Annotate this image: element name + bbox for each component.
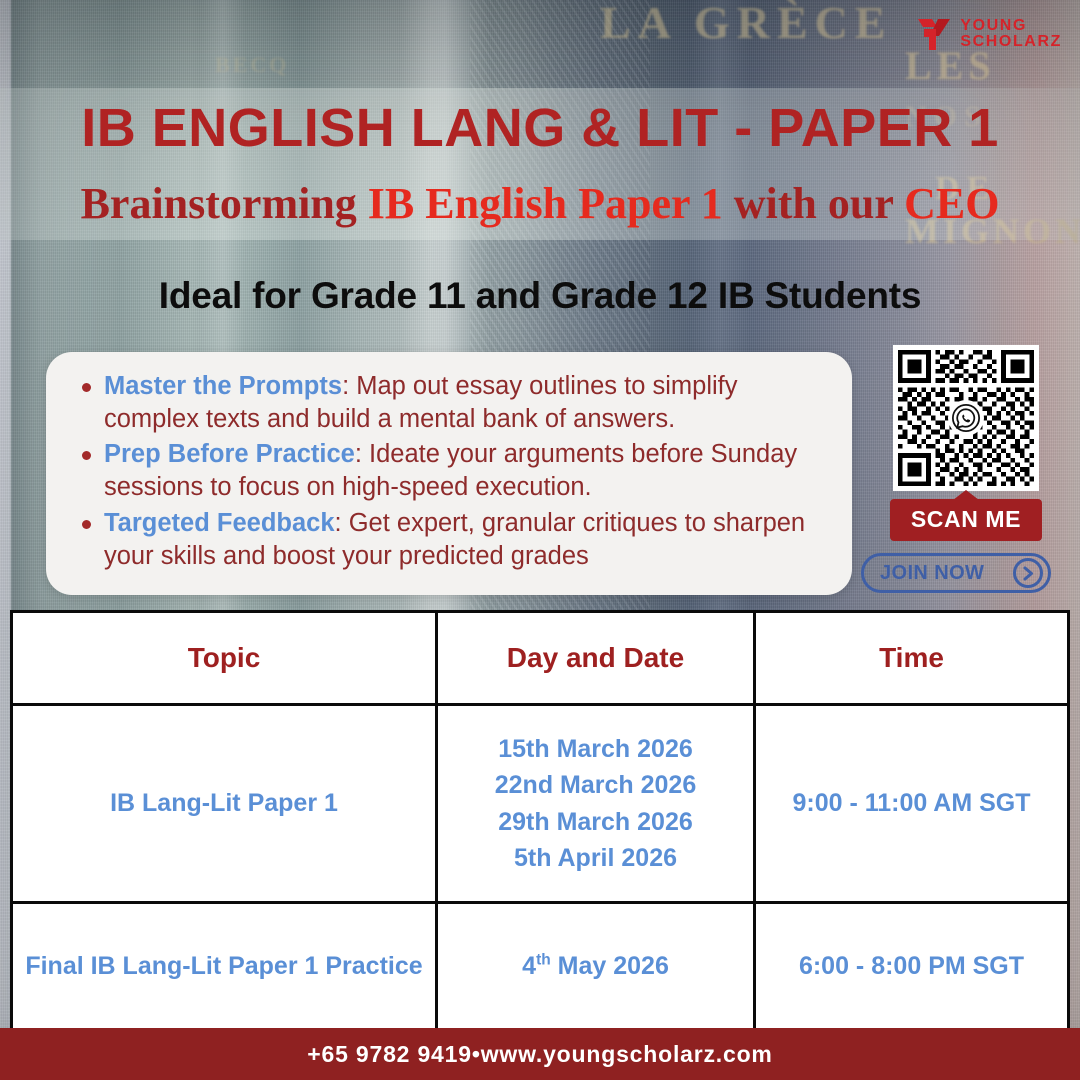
cell-topic: Final IB Lang-Lit Paper 1 Practice xyxy=(12,903,437,1031)
table-row: IB Lang-Lit Paper 1 15th March 2026 22nd… xyxy=(12,705,1069,903)
cell-time: 6:00 - 8:00 PM SGT xyxy=(755,903,1069,1031)
whatsapp-icon xyxy=(948,400,984,436)
qr-code[interactable] xyxy=(893,345,1039,491)
list-item: Master the Prompts: Map out essay outlin… xyxy=(66,370,826,436)
cell-date: 4th May 2026 xyxy=(437,903,755,1031)
cell-dates: 15th March 2026 22nd March 2026 29th Mar… xyxy=(437,705,755,903)
cell-topic: IB Lang-Lit Paper 1 xyxy=(12,705,437,903)
brand-logo-line2: SCHOLARZ xyxy=(960,34,1062,50)
subtitle-part-3: with our xyxy=(723,179,904,228)
subtitle-part-2: IB English Paper 1 xyxy=(368,179,723,228)
join-now-label: JOIN NOW xyxy=(880,562,984,585)
column-header-time: Time xyxy=(755,612,1069,705)
column-header-topic: Topic xyxy=(12,612,437,705)
brand-logo-line1: YOUNG xyxy=(960,18,1062,34)
page-title: IB ENGLISH LANG & LIT - PAPER 1 xyxy=(0,97,1080,159)
benefit-heading: Prep Before Practice xyxy=(104,440,355,468)
benefits-list: Master the Prompts: Map out essay outlin… xyxy=(66,370,826,573)
join-now-button[interactable]: JOIN NOW xyxy=(861,553,1051,593)
footer-separator: • xyxy=(472,1041,481,1068)
cell-dates-text: 15th March 2026 22nd March 2026 29th Mar… xyxy=(495,735,697,872)
contact-footer: +65 9782 9419 • www.youngscholarz.com xyxy=(0,1028,1080,1080)
table-row: Final IB Lang-Lit Paper 1 Practice 4th M… xyxy=(12,903,1069,1031)
young-scholarz-y-mark xyxy=(917,16,951,52)
footer-website: www.youngscholarz.com xyxy=(481,1041,773,1068)
column-header-day-and-date: Day and Date xyxy=(437,612,755,705)
cell-date-suffix: th xyxy=(536,952,551,969)
benefit-heading: Master the Prompts xyxy=(104,372,342,400)
footer-phone: +65 9782 9419 xyxy=(307,1041,472,1068)
audience-line: Ideal for Grade 11 and Grade 12 IB Stude… xyxy=(0,275,1080,317)
page-subtitle: Brainstorming IB English Paper 1 with ou… xyxy=(0,178,1080,229)
chevron-right-icon xyxy=(1013,558,1043,588)
list-item: Prep Before Practice: Ideate your argume… xyxy=(66,438,826,504)
brand-logo: YOUNG SCHOLARZ xyxy=(917,16,1062,52)
cell-date-number: 4 xyxy=(522,952,536,980)
subtitle-part-4: CEO xyxy=(904,179,999,228)
list-item: Targeted Feedback: Get expert, granular … xyxy=(66,507,826,573)
brand-logo-text: YOUNG SCHOLARZ xyxy=(960,18,1062,51)
cell-date-rest: May 2026 xyxy=(551,952,669,980)
scan-me-banner: SCAN ME xyxy=(890,499,1042,541)
table-header-row: Topic Day and Date Time xyxy=(12,612,1069,705)
poster: LA GRÈCE LES NOS DE MIGNON BECQ YOUNG SC… xyxy=(0,0,1080,1080)
qr-block: SCAN ME xyxy=(893,345,1042,541)
cell-time: 9:00 - 11:00 AM SGT xyxy=(755,705,1069,903)
subtitle-part-1: Brainstorming xyxy=(81,179,368,228)
schedule-table: Topic Day and Date Time IB Lang-Lit Pape… xyxy=(10,610,1070,1032)
benefit-heading: Targeted Feedback xyxy=(104,509,335,537)
benefits-card: Master the Prompts: Map out essay outlin… xyxy=(46,352,852,595)
